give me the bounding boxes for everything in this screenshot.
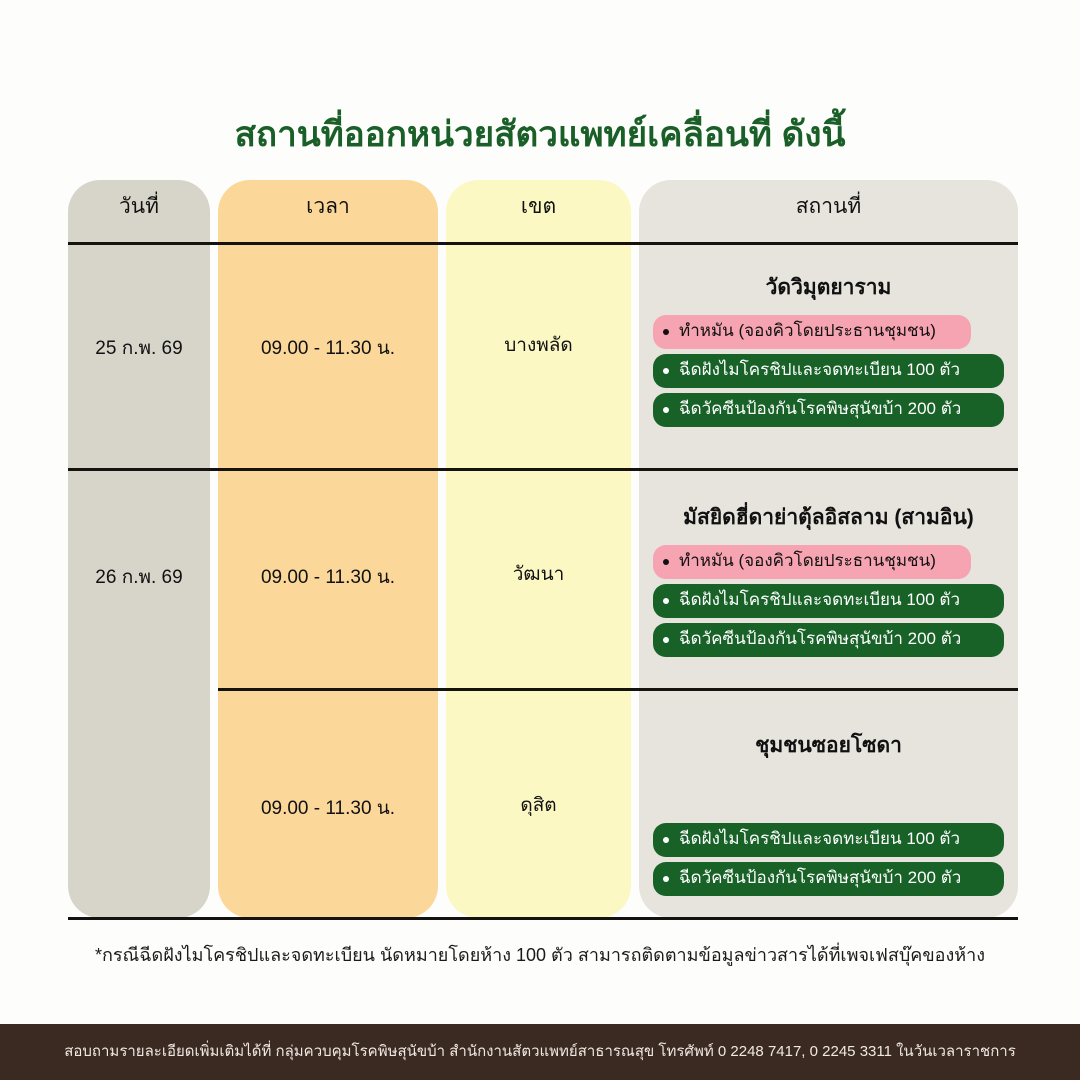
footnote: *กรณีฉีดฝังไมโครชิปและจดทะเบียน นัดหมายโ…: [0, 944, 1080, 967]
service-tag-rabies: ฉีดวัคซีนป้องกันโรคพิษสุนัขบ้า 200 ตัว: [653, 862, 1004, 896]
cell-zone: วัฒนา: [446, 563, 631, 588]
cell-time: 09.00 - 11.30 น.: [218, 337, 438, 362]
column-header-date: วันที่: [68, 194, 210, 219]
table-bottom-divider: [68, 917, 1018, 920]
table-row: 26 ก.พ. 69: [68, 566, 210, 591]
contact-bar-text: สอบถามรายละเอียดเพิ่มเติมได้ที่ กลุ่มควบ…: [44, 1043, 1036, 1061]
cell-place: ชุมชนซอยโซดา ฉีดฝังไมโครชิปและจดทะเบียน …: [639, 733, 1018, 901]
service-tag-sterilization: ทำหมัน (จองคิวโดยประธานชุมชน): [653, 315, 971, 349]
page-title: สถานที่ออกหน่วยสัตวแพทย์เคลื่อนที่ ดังนี…: [0, 116, 1080, 155]
place-name: วัดวิมุตยาราม: [653, 275, 1004, 301]
row-divider-1: [68, 468, 1018, 471]
column-background-date: [68, 180, 210, 918]
service-tag-rabies: ฉีดวัคซีนป้องกันโรคพิษสุนัขบ้า 200 ตัว: [653, 623, 1004, 657]
cell-time: 09.00 - 11.30 น.: [218, 566, 438, 591]
cell-date: 25 ก.พ. 69: [95, 338, 182, 359]
cell-date: 26 ก.พ. 69: [95, 567, 182, 588]
service-tag-microchip: ฉีดฝังไมโครชิปและจดทะเบียน 100 ตัว: [653, 354, 1004, 388]
service-tag-sterilization: ทำหมัน (จองคิวโดยประธานชุมชน): [653, 545, 971, 579]
column-header-place: สถานที่: [639, 194, 1018, 219]
cell-time: 09.00 - 11.30 น.: [218, 797, 438, 822]
column-header-time: เวลา: [218, 194, 438, 219]
place-name: มัสยิดฮี่ดาย่าตุ้ลอิสลาม (สามอิน): [653, 505, 1004, 531]
place-name: ชุมชนซอยโซดา: [653, 733, 1004, 759]
row-divider-2: [218, 688, 1018, 691]
contact-bar: สอบถามรายละเอียดเพิ่มเติมได้ที่ กลุ่มควบ…: [0, 1024, 1080, 1080]
service-tag-microchip: ฉีดฝังไมโครชิปและจดทะเบียน 100 ตัว: [653, 823, 1004, 857]
cell-place: มัสยิดฮี่ดาย่าตุ้ลอิสลาม (สามอิน) ทำหมัน…: [639, 505, 1018, 662]
header-divider: [68, 242, 1018, 245]
cell-zone: ดุสิต: [446, 794, 631, 819]
service-tag-rabies: ฉีดวัคซีนป้องกันโรคพิษสุนัขบ้า 200 ตัว: [653, 393, 1004, 427]
table-row: 25 ก.พ. 69: [68, 337, 210, 362]
service-tag-microchip: ฉีดฝังไมโครชิปและจดทะเบียน 100 ตัว: [653, 584, 1004, 618]
column-header-zone: เขต: [446, 194, 631, 219]
cell-place: วัดวิมุตยาราม ทำหมัน (จองคิวโดยประธานชุม…: [639, 275, 1018, 432]
cell-zone: บางพลัด: [446, 334, 631, 359]
schedule-table: วันที่ เวลา เขต สถานที่ 25 ก.พ. 69 09.00…: [68, 180, 1018, 918]
